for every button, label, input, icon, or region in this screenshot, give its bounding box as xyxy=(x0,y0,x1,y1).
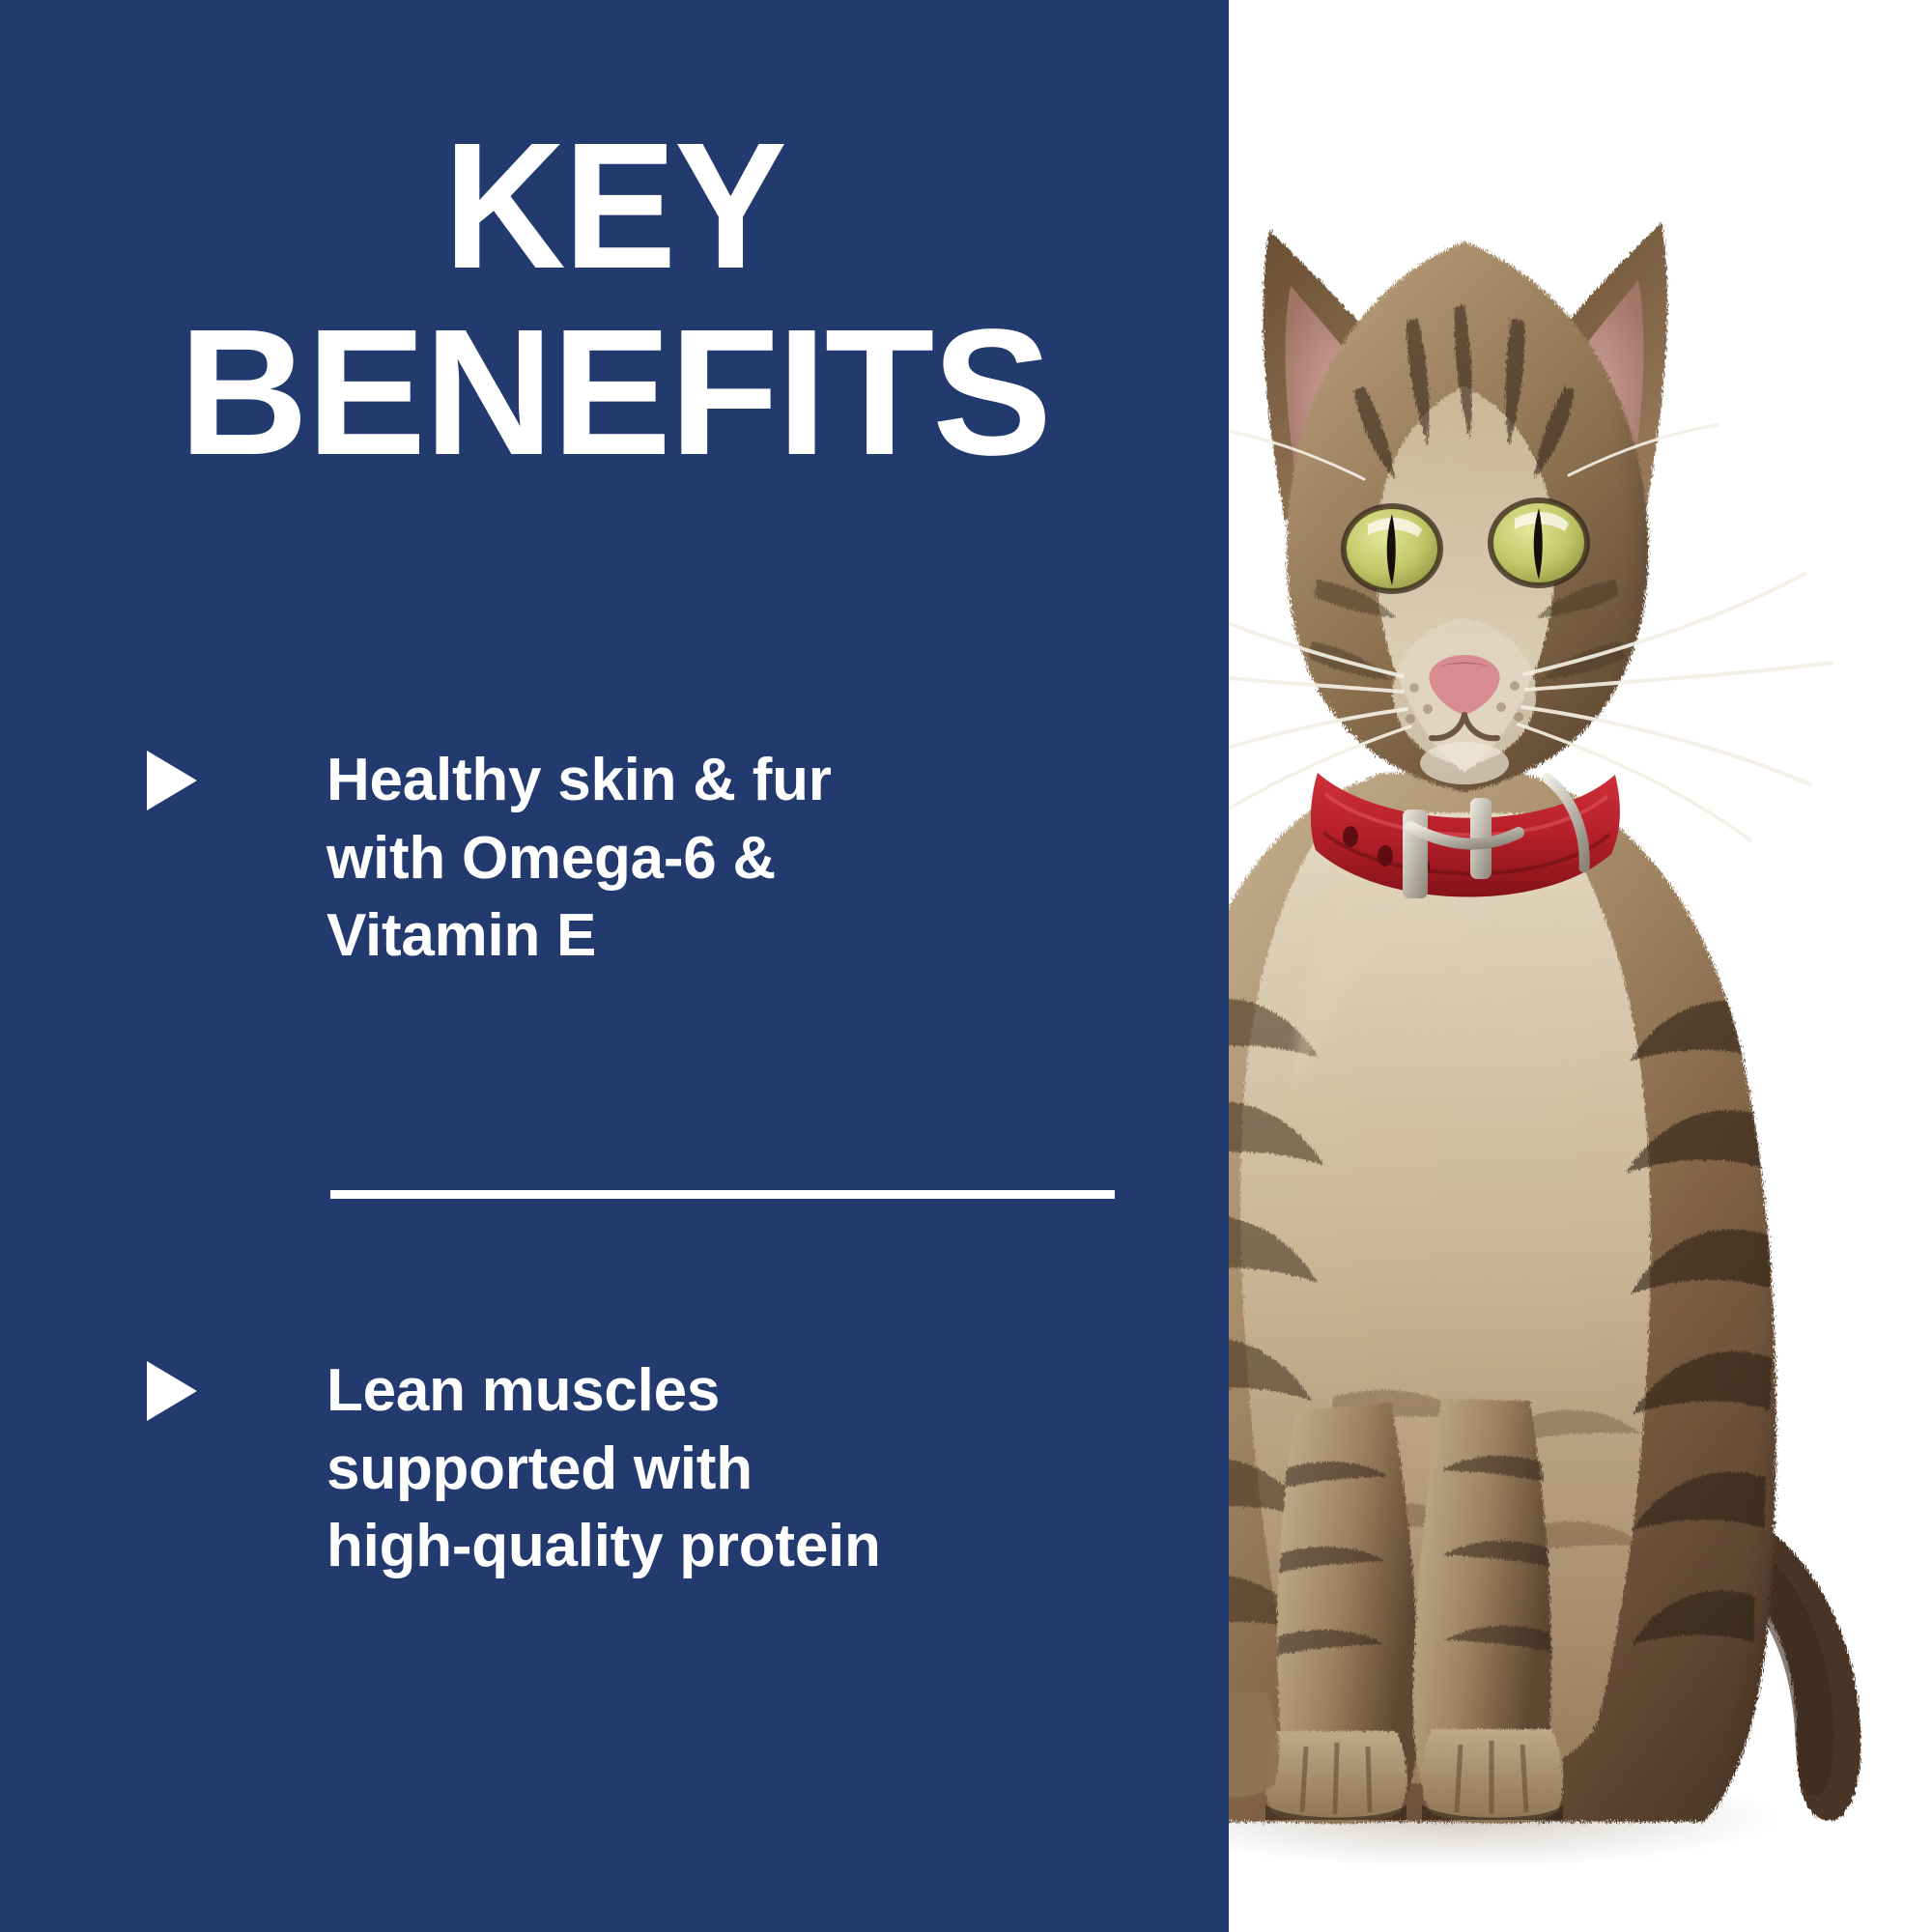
benefit-1-line-2: with Omega-6 & xyxy=(327,820,1132,898)
benefit-2-line-2: supported with xyxy=(327,1431,1132,1509)
benefit-item-1: Healthy skin & fur with Omega-6 & Vitami… xyxy=(147,742,1132,976)
tabby-cat-image xyxy=(1229,0,1932,1932)
benefit-2-line-3: high-quality protein xyxy=(327,1508,1132,1586)
triangle-right-icon xyxy=(147,751,197,810)
cat-head xyxy=(1263,222,1692,792)
benefit-item-2-text: Lean muscles supported with high-quality… xyxy=(327,1352,1132,1586)
benefit-1-line-1: Healthy skin & fur xyxy=(327,742,1132,820)
section-divider xyxy=(330,1190,1115,1199)
cat-illustration xyxy=(1229,0,1932,1932)
benefit-2-line-1: Lean muscles xyxy=(327,1352,1132,1431)
key-benefits-banner: KEY BENEFITS Healthy skin & fur with Ome… xyxy=(0,0,1932,1932)
triangle-right-icon xyxy=(147,1361,197,1421)
cat-photo xyxy=(1229,0,1932,1932)
benefit-item-2: Lean muscles supported with high-quality… xyxy=(147,1352,1132,1586)
benefit-1-line-3: Vitamin E xyxy=(327,897,1132,976)
benefit-item-1-text: Healthy skin & fur with Omega-6 & Vitami… xyxy=(327,742,1132,976)
heading-line-2: BENEFITS xyxy=(0,310,1229,475)
heading-line-1: KEY xyxy=(37,124,1192,289)
page-title: KEY BENEFITS xyxy=(0,124,1229,475)
